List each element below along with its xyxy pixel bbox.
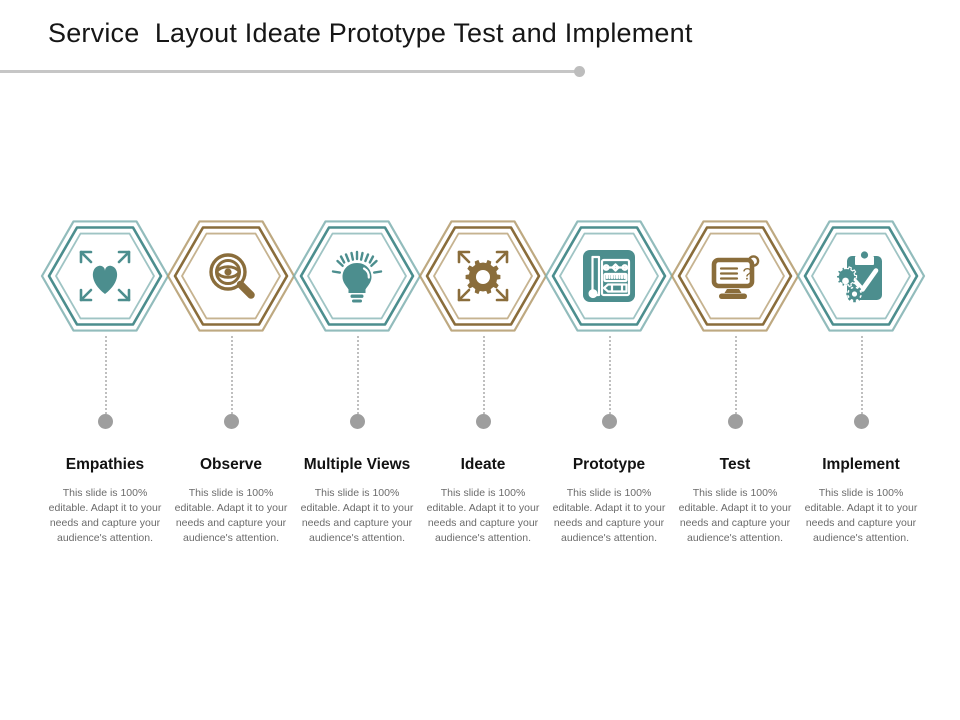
- step-description: This slide is 100% editable. Adapt it to…: [173, 486, 289, 546]
- step-label: Empathies: [34, 456, 176, 474]
- step-node-dot: [350, 414, 365, 429]
- step-label: Implement: [790, 456, 932, 474]
- step-hexagon-badge[interactable]: [291, 208, 423, 344]
- step-node-dot: [476, 414, 491, 429]
- step-label: Test: [664, 456, 806, 474]
- process-steps: EmpathiesThis slide is 100% editable. Ad…: [0, 0, 960, 720]
- step-node-dot: [98, 414, 113, 429]
- step-node-dot: [602, 414, 617, 429]
- process-step[interactable]: ImplementThis slide is 100% editable. Ad…: [798, 0, 924, 720]
- step-label: Ideate: [412, 456, 554, 474]
- step-label: Prototype: [538, 456, 680, 474]
- step-description: This slide is 100% editable. Adapt it to…: [677, 486, 793, 546]
- step-connector-line: [231, 336, 233, 414]
- step-description: This slide is 100% editable. Adapt it to…: [47, 486, 163, 546]
- step-description: This slide is 100% editable. Adapt it to…: [803, 486, 919, 546]
- step-node-dot: [854, 414, 869, 429]
- step-description: This slide is 100% editable. Adapt it to…: [425, 486, 541, 546]
- step-node-dot: [224, 414, 239, 429]
- process-step[interactable]: PrototypeThis slide is 100% editable. Ad…: [546, 0, 672, 720]
- step-connector-line: [735, 336, 737, 414]
- step-connector-line: [861, 336, 863, 414]
- step-connector-line: [357, 336, 359, 414]
- step-hexagon-badge[interactable]: [795, 208, 927, 344]
- step-label: Observe: [160, 456, 302, 474]
- step-hexagon-badge[interactable]: [39, 208, 171, 344]
- process-step[interactable]: ? TestThis slide is 100% editable. Adapt…: [672, 0, 798, 720]
- step-label: Multiple Views: [286, 456, 428, 474]
- process-step[interactable]: ObserveThis slide is 100% editable. Adap…: [168, 0, 294, 720]
- step-hexagon-badge[interactable]: ?: [669, 208, 801, 344]
- process-step[interactable]: EmpathiesThis slide is 100% editable. Ad…: [42, 0, 168, 720]
- step-connector-line: [105, 336, 107, 414]
- step-connector-line: [609, 336, 611, 414]
- step-node-dot: [728, 414, 743, 429]
- step-hexagon-badge[interactable]: [543, 208, 675, 344]
- process-step[interactable]: Multiple ViewsThis slide is 100% editabl…: [294, 0, 420, 720]
- step-description: This slide is 100% editable. Adapt it to…: [551, 486, 667, 546]
- step-description: This slide is 100% editable. Adapt it to…: [299, 486, 415, 546]
- process-step[interactable]: IdeateThis slide is 100% editable. Adapt…: [420, 0, 546, 720]
- step-hexagon-badge[interactable]: [417, 208, 549, 344]
- step-connector-line: [483, 336, 485, 414]
- svg-text:?: ?: [743, 265, 752, 284]
- step-hexagon-badge[interactable]: [165, 208, 297, 344]
